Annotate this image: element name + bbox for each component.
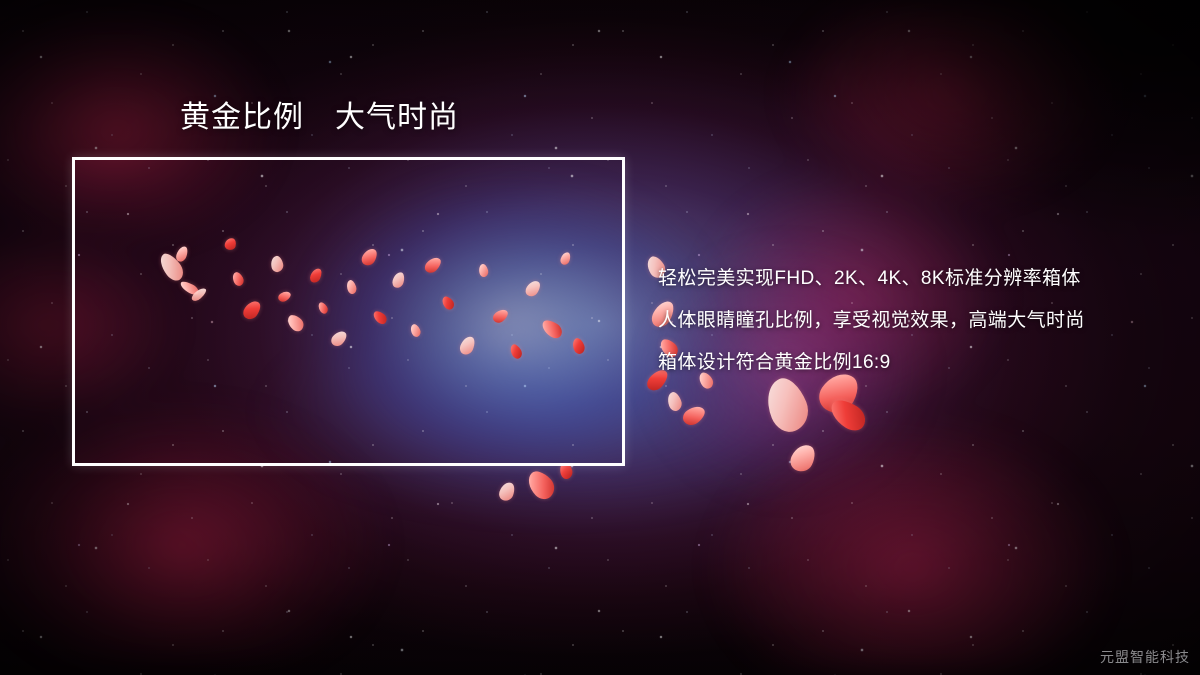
feature-line-1: 轻松完美实现FHD、2K、4K、8K标准分辨率箱体 <box>658 258 1178 300</box>
page-title: 黄金比例 大气时尚 <box>180 101 459 136</box>
company-watermark: 元盟智能科技 <box>1100 647 1190 667</box>
feature-description: 轻松完美实现FHD、2K、4K、8K标准分辨率箱体 人体眼睛瞳孔比例，享受视觉效… <box>658 258 1178 384</box>
feature-line-2: 人体眼睛瞳孔比例，享受视觉效果，高端大气时尚 <box>658 300 1178 342</box>
preview-nebula-scene <box>75 160 622 463</box>
presentation-slide: 黄金比例 大气时尚 轻松完美实现FHD、2K、4K、8K标准分辨率箱体 人体眼睛… <box>0 0 1200 675</box>
feature-line-3: 箱体设计符合黄金比例16:9 <box>658 342 1178 384</box>
golden-ratio-preview-frame[interactable] <box>72 157 625 466</box>
preview-frame-content <box>75 160 622 463</box>
